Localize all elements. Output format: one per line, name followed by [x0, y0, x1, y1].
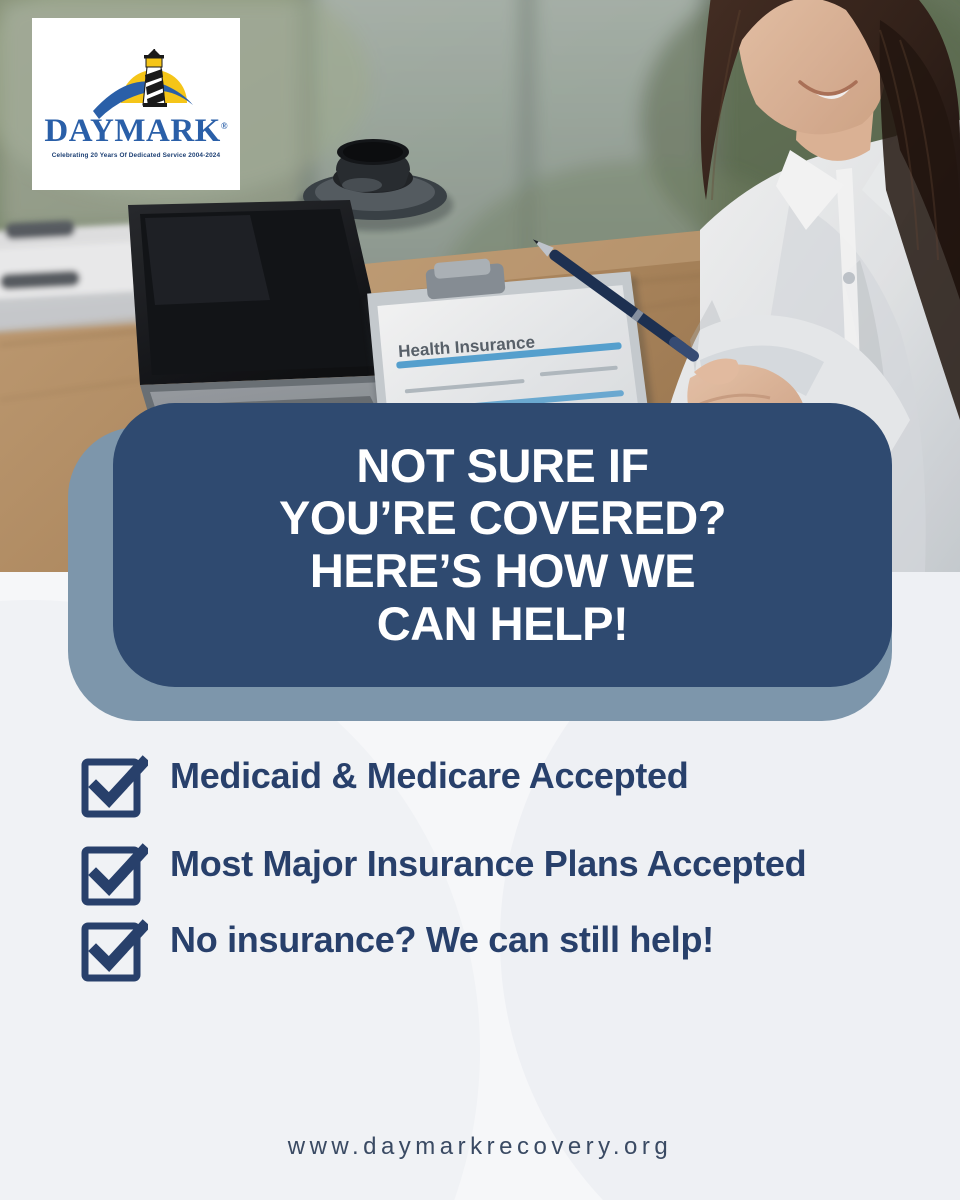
daymark-logo: DAYMARK® Celebrating 20 Years Of Dedicat… — [32, 18, 240, 190]
list-item: No insurance? We can still help! — [0, 916, 960, 986]
logo-wordmark: DAYMARK® — [44, 115, 227, 148]
headline-banner: NOT SURE IF YOU’RE COVERED? HERE’S HOW W… — [68, 403, 892, 721]
logo-trademark-symbol: ® — [221, 121, 228, 131]
headline-card: NOT SURE IF YOU’RE COVERED? HERE’S HOW W… — [113, 403, 892, 687]
benefits-checklist: Medicaid & Medicare Accepted Most Major … — [0, 752, 960, 1004]
lighthouse-icon — [61, 49, 211, 121]
poster-canvas: Health Insurance — [0, 0, 960, 1200]
list-item: Most Major Insurance Plans Accepted — [0, 840, 960, 910]
website-url[interactable]: www.daymarkrecovery.org — [0, 1133, 960, 1161]
page-title: NOT SURE IF YOU’RE COVERED? HERE’S HOW W… — [249, 440, 756, 651]
list-item-label: Most Major Insurance Plans Accepted — [170, 840, 806, 889]
logo-tagline: Celebrating 20 Years Of Dedicated Servic… — [52, 152, 220, 159]
checkbox-checked-icon — [80, 918, 148, 986]
checkbox-checked-icon — [80, 842, 148, 910]
checkbox-checked-icon — [80, 754, 148, 822]
list-item-label: Medicaid & Medicare Accepted — [170, 752, 688, 801]
list-item-label: No insurance? We can still help! — [170, 916, 714, 965]
list-item: Medicaid & Medicare Accepted — [0, 752, 960, 822]
